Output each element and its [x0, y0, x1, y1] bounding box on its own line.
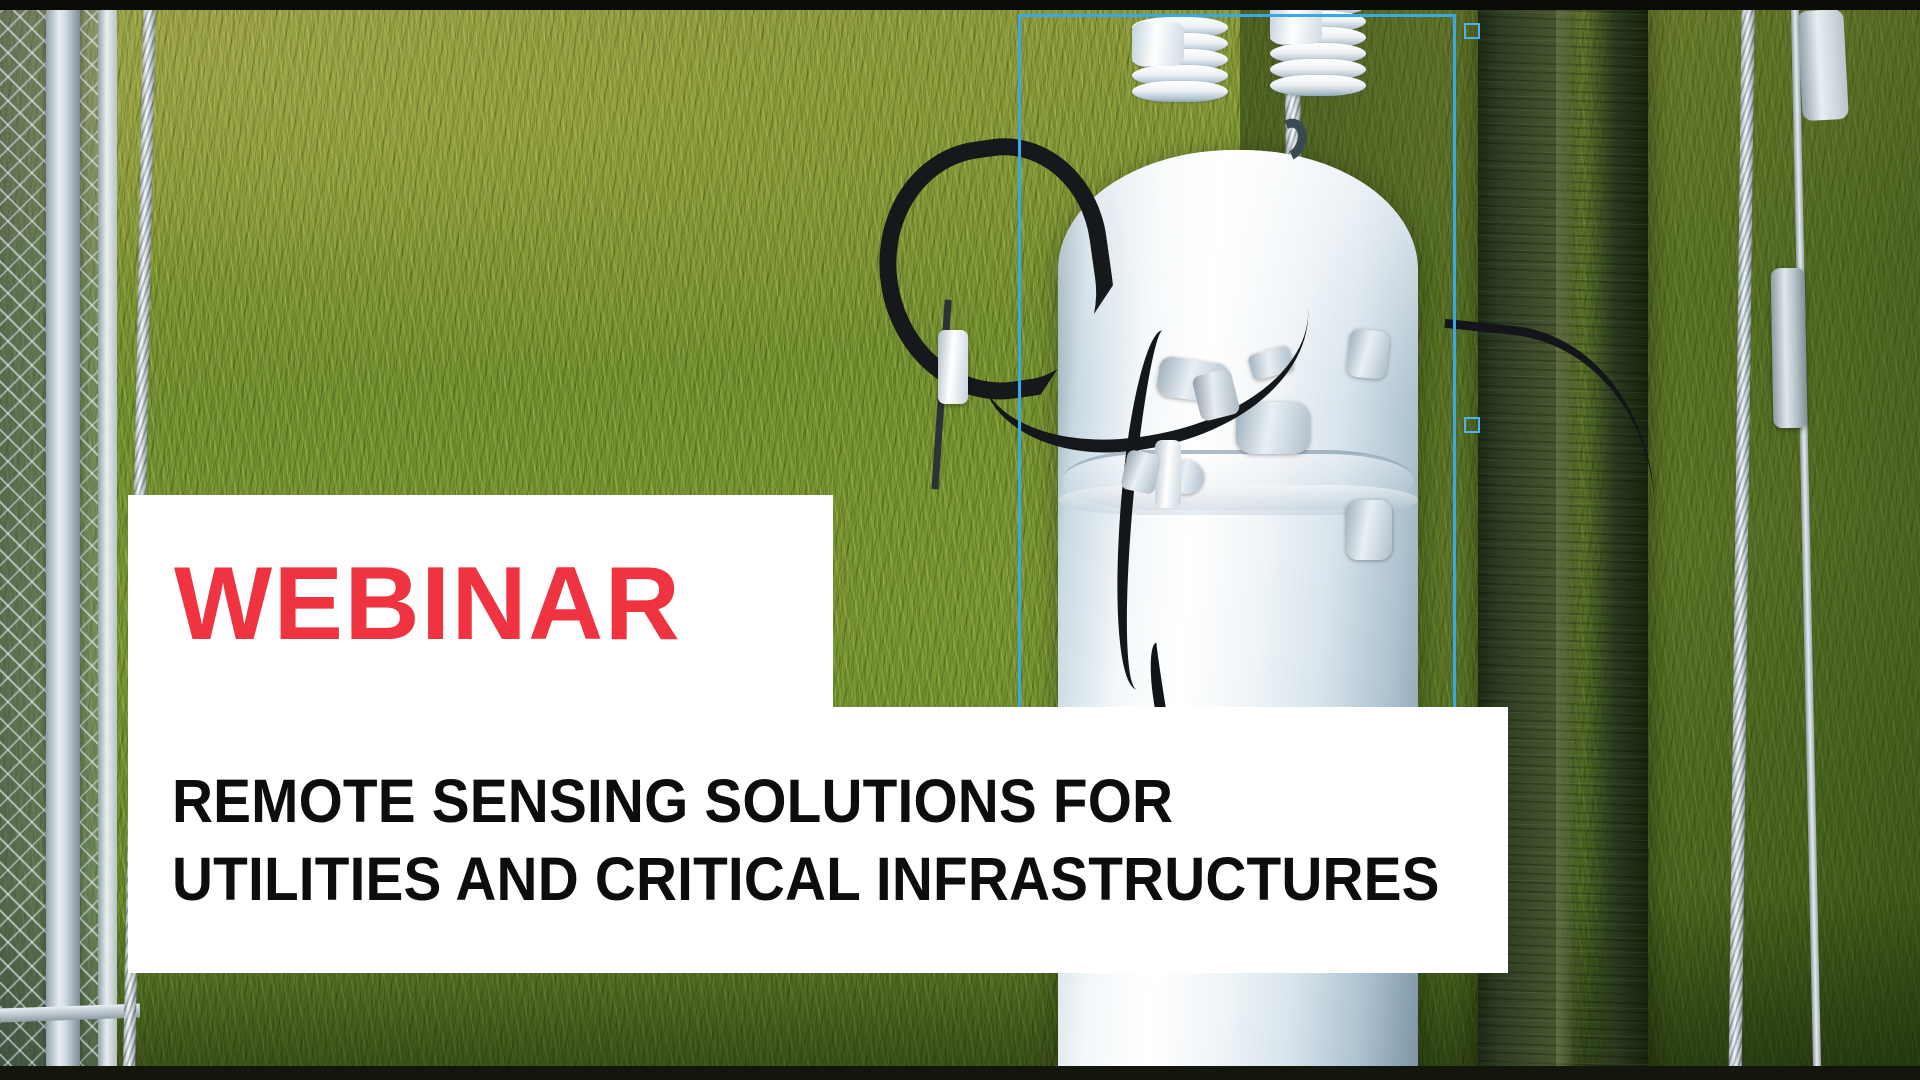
fence-post-secondary [98, 0, 117, 1080]
webinar-kicker-text: WEBINAR [174, 552, 681, 656]
bushing-cap [1132, 22, 1184, 66]
bushing-right [1270, 0, 1366, 96]
subtitle-line-1: REMOTE SENSING SOLUTIONS FOR [172, 762, 1414, 840]
video-edge-top [0, 0, 1920, 10]
fence-post-primary [46, 0, 80, 1080]
webinar-subtitle-card: REMOTE SENSING SOLUTIONS FOR UTILITIES A… [128, 707, 1508, 973]
insulator-left [938, 330, 968, 404]
transformer-fitting [1346, 500, 1392, 560]
bushing-skirt [1270, 75, 1366, 96]
wire-clamp-lower [1771, 268, 1808, 429]
webinar-kicker-card: WEBINAR [128, 495, 833, 713]
video-edge-bottom [0, 1066, 1920, 1080]
slide-canvas: WEBINAR REMOTE SENSING SOLUTIONS FOR UTI… [0, 0, 1920, 1080]
subtitle-line-2: UTILITIES AND CRITICAL INFRASTRUCTURES [172, 840, 1414, 918]
wire-clamp-upper [1797, 9, 1849, 121]
transformer-fitting [1346, 328, 1391, 380]
bushing-left [1132, 22, 1228, 102]
bushing-skirt [1132, 81, 1228, 102]
insulator-lower [1155, 440, 1181, 508]
